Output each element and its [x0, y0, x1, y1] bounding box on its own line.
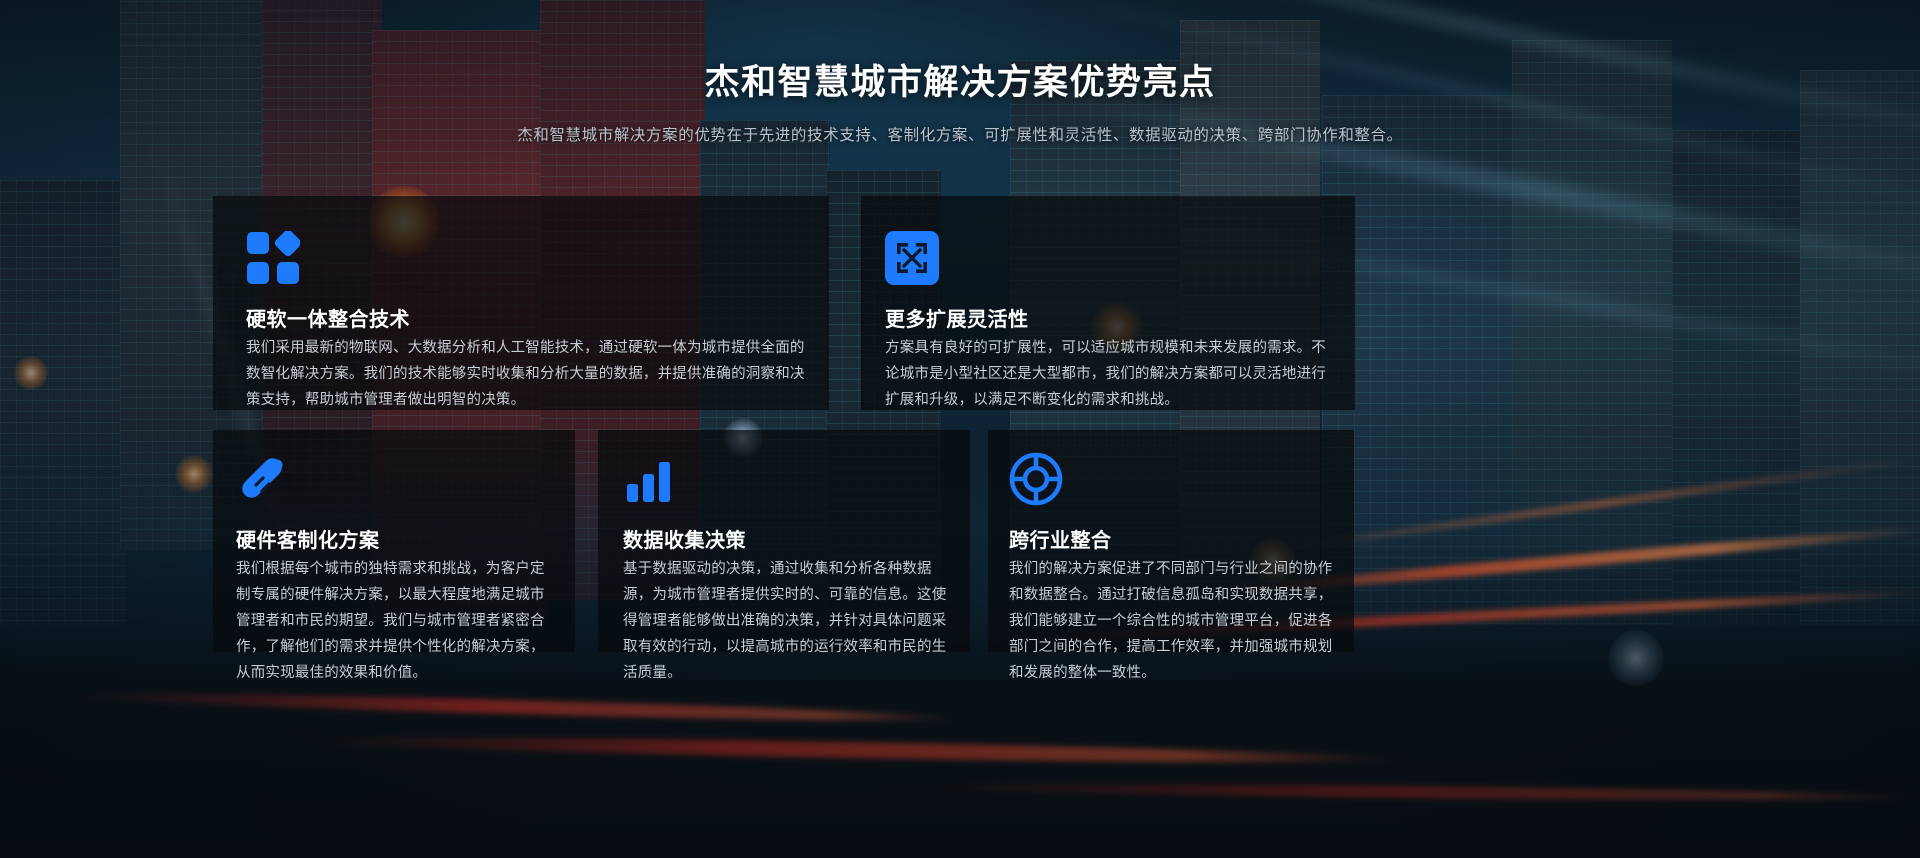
feature-card-data-driven-decision[interactable]: 数据收集决策 基于数据驱动的决策，通过收集和分析各种数据源，为城市管理者提供实时…	[598, 430, 970, 652]
feature-card-hardware-software-integration[interactable]: 硬软一体整合技术 我们采用最新的物联网、大数据分析和人工智能技术，通过硬软一体为…	[213, 196, 829, 410]
four-shapes-grid-icon	[246, 231, 300, 285]
feature-card-body: 方案具有良好的可扩展性，可以适应城市规模和未来发展的需求。不论城市是小型社区还是…	[885, 335, 1337, 413]
feature-card-title: 更多扩展灵活性	[885, 303, 1029, 332]
page-subtitle: 杰和智慧城市解决方案的优势在于先进的技术支持、客制化方案、可扩展性和灵活性、数据…	[0, 123, 1920, 145]
feature-card-body: 我们采用最新的物联网、大数据分析和人工智能技术，通过硬软一体为城市提供全面的数智…	[246, 335, 806, 413]
feature-card-cross-industry-integration[interactable]: 跨行业整合 我们的解决方案促进了不同部门与行业之间的协作和数据整合。通过打破信息…	[988, 430, 1354, 652]
customization-tools-icon	[236, 452, 290, 506]
bar-chart-icon	[623, 452, 677, 506]
feature-card-scalability-flexibility[interactable]: 更多扩展灵活性 方案具有良好的可扩展性，可以适应城市规模和未来发展的需求。不论城…	[861, 196, 1355, 410]
feature-card-title: 硬件客制化方案	[236, 524, 380, 553]
crosshair-target-icon	[1009, 452, 1063, 506]
feature-card-hardware-customization[interactable]: 硬件客制化方案 我们根据每个城市的独特需求和挑战，为客户定制专属的硬件解决方案，…	[213, 430, 575, 652]
feature-card-body: 我们的解决方案促进了不同部门与行业之间的协作和数据整合。通过打破信息孤岛和实现数…	[1009, 556, 1339, 686]
feature-card-title: 跨行业整合	[1009, 524, 1112, 553]
content-layer: 杰和智慧城市解决方案优势亮点 杰和智慧城市解决方案的优势在于先进的技术支持、客制…	[0, 0, 1920, 858]
feature-card-title: 硬软一体整合技术	[246, 303, 410, 332]
page-title: 杰和智慧城市解决方案优势亮点	[0, 54, 1920, 105]
feature-card-body: 我们根据每个城市的独特需求和挑战，为客户定制专属的硬件解决方案，以最大程度地满足…	[236, 556, 554, 686]
page-root: 杰和智慧城市解决方案优势亮点 杰和智慧城市解决方案的优势在于先进的技术支持、客制…	[0, 0, 1920, 858]
feature-card-body: 基于数据驱动的决策，通过收集和分析各种数据源，为城市管理者提供实时的、可靠的信息…	[623, 556, 947, 686]
feature-card-title: 数据收集决策	[623, 524, 746, 553]
expand-arrows-icon	[885, 231, 939, 285]
